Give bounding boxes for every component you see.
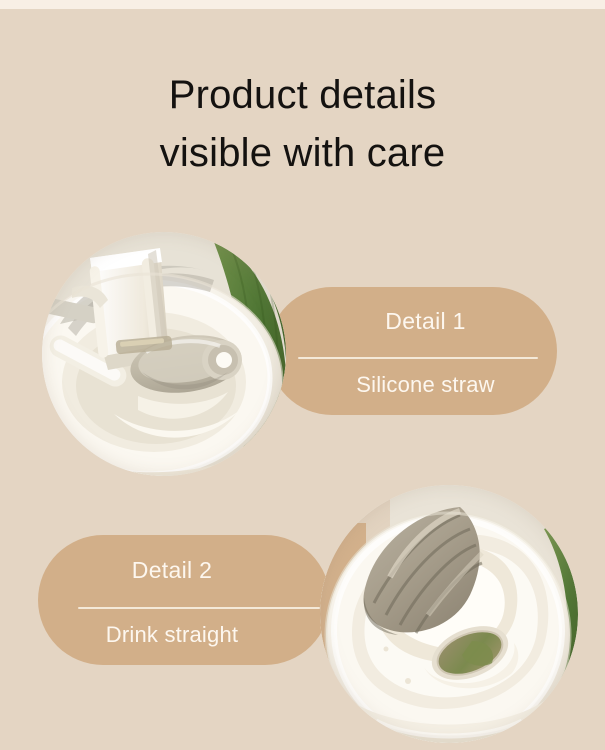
detail-2-divider (78, 607, 320, 609)
detail-2-subtitle: Drink straight (38, 620, 330, 650)
detail-1-title: Detail 1 (268, 306, 557, 336)
detail-2-title: Detail 2 (38, 555, 330, 585)
detail-1-product-photo (42, 232, 286, 476)
top-accent-strip (0, 0, 605, 9)
detail-card-2: Detail 2 Drink straight (38, 535, 330, 665)
page-title-line-1: Product details (0, 66, 605, 124)
detail-1-subtitle: Silicone straw (268, 370, 557, 400)
page-title-line-2: visible with care (0, 124, 605, 182)
detail-1-divider (298, 357, 538, 359)
page-title: Product details visible with care (0, 66, 605, 182)
detail-card-1: Detail 1 Silicone straw (268, 287, 557, 415)
detail-2-product-photo (320, 485, 578, 743)
